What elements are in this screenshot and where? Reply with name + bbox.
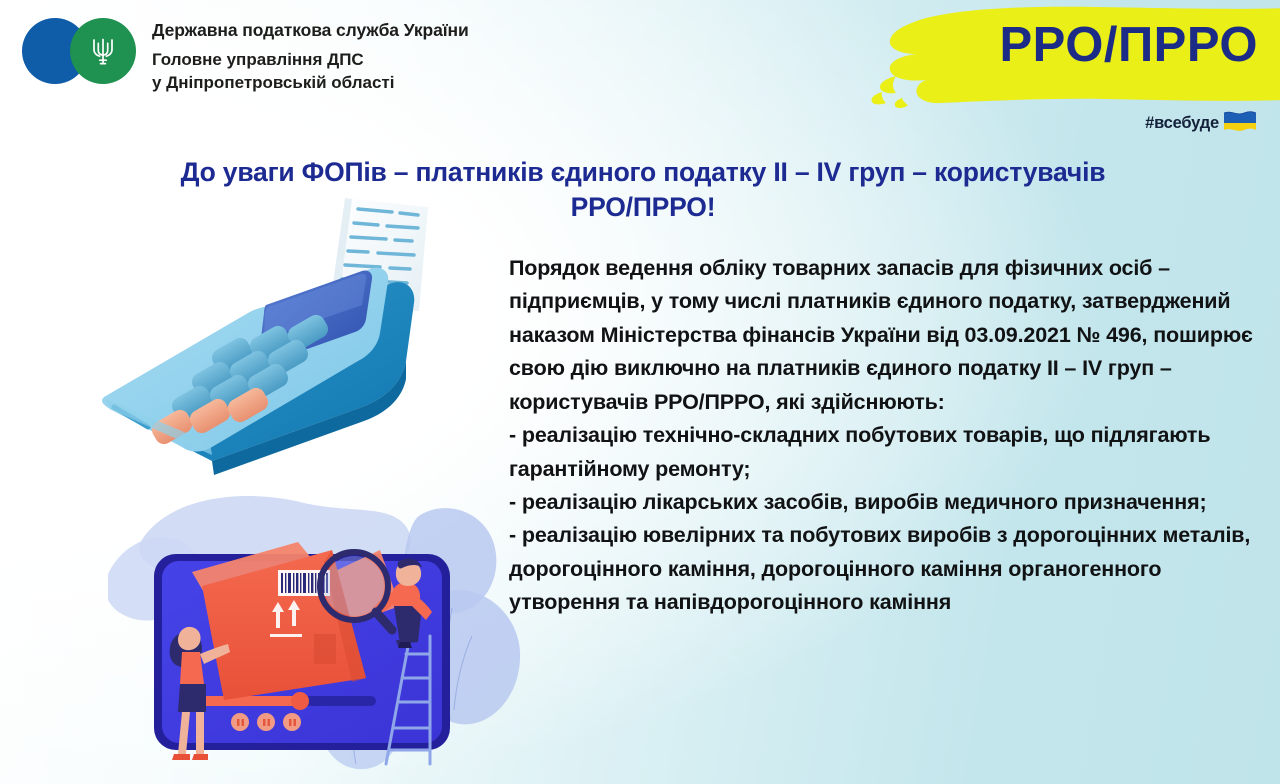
banner-area: РРО/ПРРО #всебуде (860, 0, 1280, 122)
body-bullet-3: - реалізацію ювелірних та побутових виро… (509, 519, 1261, 619)
body-paragraph: Порядок ведення обліку товарних запасів … (509, 252, 1261, 419)
pos-terminal-icon (62, 193, 462, 493)
body-bullet-1: - реалізацію технічно-складних побутових… (509, 419, 1261, 486)
dps-logo (22, 14, 152, 86)
green-circle-trident-icon (70, 18, 136, 84)
hashtag-block: #всебуде (1145, 110, 1258, 136)
media-control-buttons (231, 713, 301, 731)
body-content: Порядок ведення обліку товарних запасів … (509, 252, 1261, 620)
ukraine-flag-icon (1222, 110, 1258, 136)
page-title-line1: До уваги ФОПів – платників єдиного подат… (181, 157, 1106, 187)
org-name-line3: у Дніпропетровській області (152, 72, 469, 95)
header-org-text: Державна податкова служба України Головн… (152, 14, 469, 95)
body-bullet-2: - реалізацію лікарських засобів, виробів… (509, 486, 1261, 519)
pos-terminal-illustration (62, 193, 462, 493)
header-branding: Державна податкова служба України Головн… (22, 14, 469, 95)
org-name-line1: Державна податкова служба України (152, 20, 469, 42)
hashtag-text: #всебуде (1145, 114, 1219, 133)
inventory-inspection-illustration (100, 488, 530, 784)
banner-title: РРО/ПРРО (1000, 21, 1259, 70)
inventory-inspection-scene (100, 488, 530, 784)
poster-canvas: Державна податкова служба України Головн… (0, 0, 1280, 784)
org-name-line2: Головне управління ДПС (152, 49, 469, 72)
trident-icon (90, 35, 116, 67)
